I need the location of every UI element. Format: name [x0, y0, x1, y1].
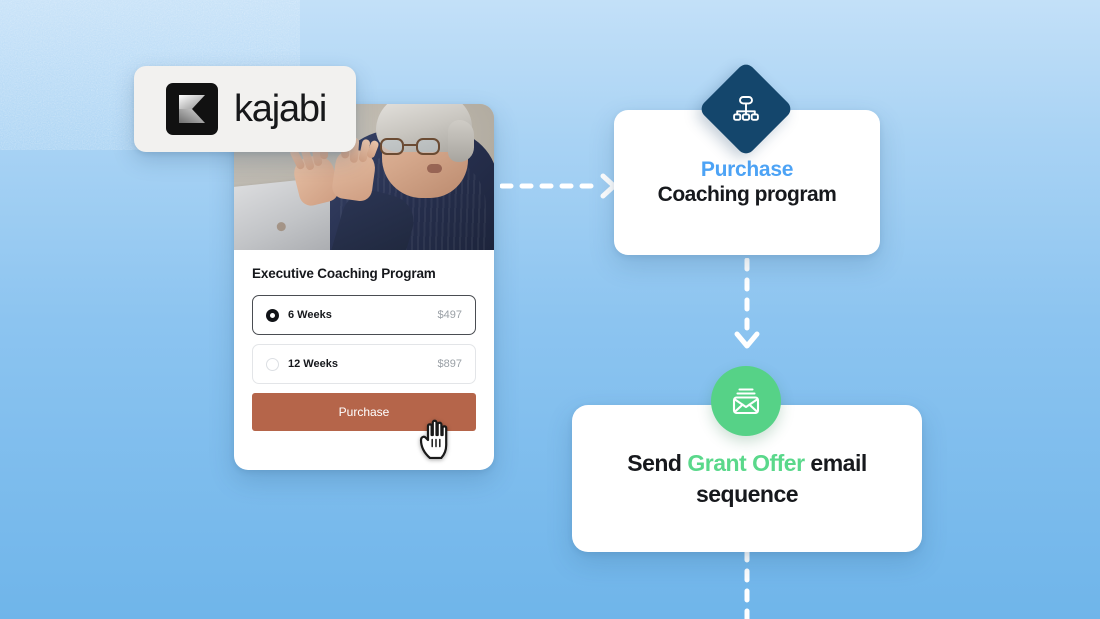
product-checkout-card: Executive Coaching Program 6 Weeks $497 …	[234, 104, 494, 470]
radio-selected-icon[interactable]	[266, 309, 279, 322]
send-email-icon	[711, 366, 781, 436]
action-text-prefix: Send	[627, 450, 687, 476]
product-option-label: 12 Weeks	[288, 358, 338, 370]
action-outbound-line	[730, 551, 764, 619]
kajabi-logo-icon	[166, 83, 218, 135]
trigger-inbound-arrow	[500, 168, 620, 204]
canvas: Executive Coaching Program 6 Weeks $497 …	[0, 0, 1100, 619]
trigger-kicker-label: Purchase	[701, 158, 793, 182]
action-text: Send Grant Offer email sequence	[606, 448, 888, 509]
radio-unselected-icon[interactable]	[266, 358, 279, 371]
purchase-button[interactable]: Purchase	[252, 393, 476, 431]
product-option-row[interactable]: 12 Weeks $897	[252, 344, 476, 384]
kajabi-wordmark: kajabi	[234, 90, 326, 128]
action-text-highlight: Grant Offer	[687, 450, 804, 476]
product-option-price: $897	[438, 358, 462, 370]
product-option-row[interactable]: 6 Weeks $497	[252, 295, 476, 335]
trigger-title-label: Coaching program	[658, 183, 837, 207]
kajabi-brand-badge: kajabi	[134, 66, 356, 152]
product-title: Executive Coaching Program	[252, 266, 476, 281]
trigger-to-action-arrow	[730, 258, 764, 354]
product-option-price: $497	[438, 309, 462, 321]
product-option-label: 6 Weeks	[288, 309, 332, 321]
